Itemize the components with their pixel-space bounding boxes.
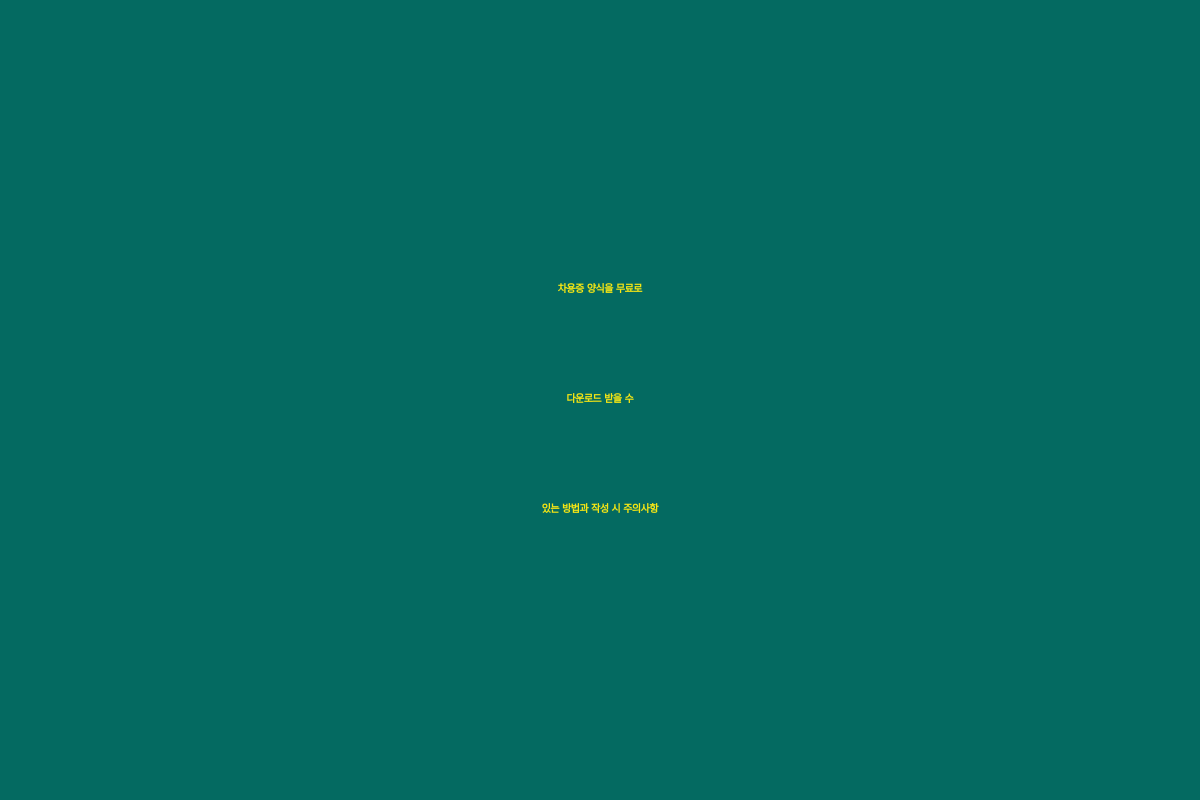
headline-line-2: 다운로드 받을 수	[0, 345, 1200, 455]
headline-text: 차용증 양식을 무료로 다운로드 받을 수 있는 방법과 작성 시 주의사항	[0, 235, 1200, 565]
banner-canvas: 차용증 양식을 무료로 다운로드 받을 수 있는 방법과 작성 시 주의사항	[0, 0, 1200, 800]
headline-line-1: 차용증 양식을 무료로	[0, 235, 1200, 345]
headline-line-3: 있는 방법과 작성 시 주의사항	[0, 455, 1200, 565]
